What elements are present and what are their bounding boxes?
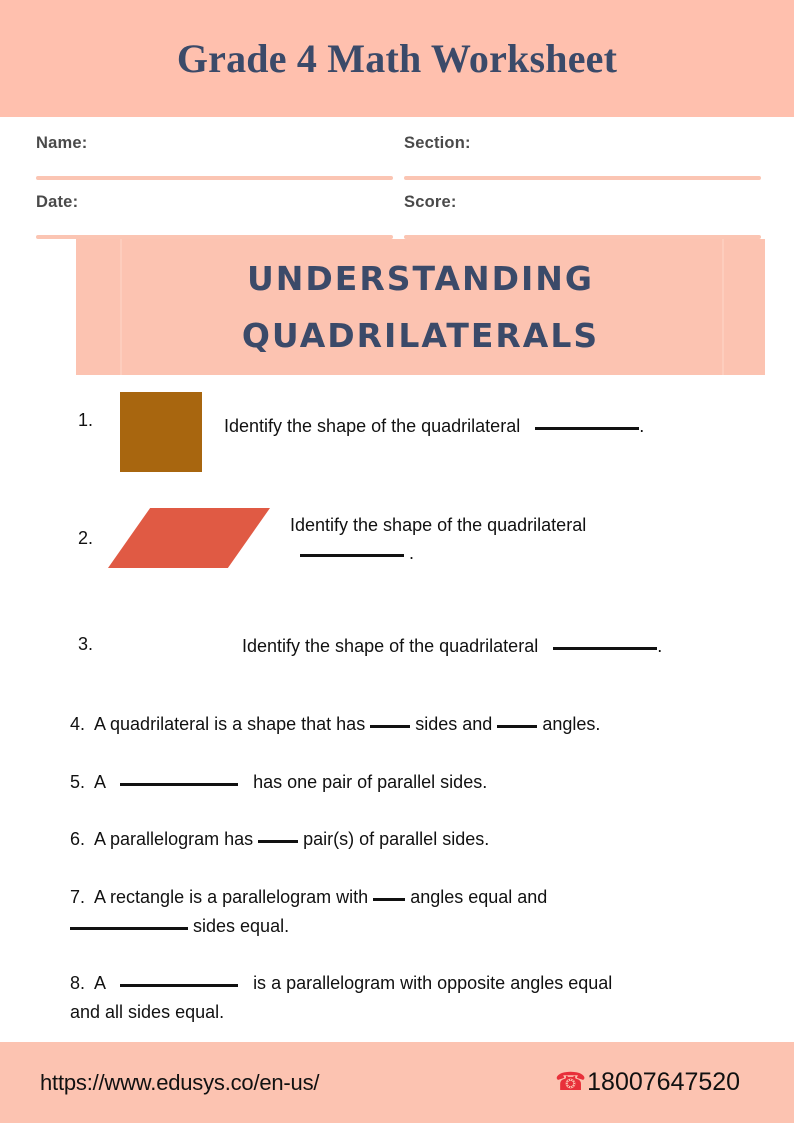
telephone-icon: ☎ [555,1070,586,1095]
question-8-answer-blank[interactable] [120,984,238,987]
question-5-answer-blank[interactable] [120,783,238,786]
question-7-number: 7. [70,887,85,907]
question-3-period: . [657,636,662,656]
question-8-number: 8. [70,973,85,993]
question-7-part2: angles equal and [410,887,547,907]
question-4-part3: angles. [542,714,600,734]
field-section[interactable]: Section: [404,134,761,180]
banner-divider-left [120,239,122,375]
question-2-number: 2. [78,528,93,549]
topic-banner: Understanding Quadrilaterals [76,239,765,375]
question-5-part2: has one pair of parallel sides. [253,772,487,792]
footer-phone[interactable]: ☎18007647520 [555,1068,740,1097]
question-2: 2. Identify the shape of the quadrilater… [0,502,794,582]
student-info-area: Name: Section: Date: Score: [0,117,794,233]
field-section-label: Section: [404,134,471,152]
question-1-period: . [639,416,644,436]
field-date-label: Date: [36,193,78,211]
question-2-text: Identify the shape of the quadrilateral … [290,511,710,567]
question-7-part1: A rectangle is a parallelogram with [94,887,368,907]
question-2-period: . [409,543,414,563]
question-6: 6.A parallelogram has pair(s) of paralle… [70,825,750,854]
question-5-number: 5. [70,772,85,792]
field-name-label: Name: [36,134,87,152]
footer-phone-number: 18007647520 [587,1068,740,1097]
question-7-blank-sides[interactable] [70,927,188,930]
question-8: 8.A is a parallelogram with opposite ang… [70,969,750,1027]
field-score-label: Score: [404,193,457,211]
question-1: 1. Identify the shape of the quadrilater… [0,392,794,492]
footer-band: https://www.edusys.co/en-us/ ☎1800764752… [0,1042,794,1123]
question-6-answer-blank[interactable] [258,840,298,843]
worksheet-header-band: Grade 4 Math Worksheet [0,0,794,117]
rectangle-shape [120,392,202,472]
question-5-part1: A [94,772,105,792]
field-name-rule [36,176,393,180]
question-8-part2: is a parallelogram with opposite angles … [253,973,612,993]
banner-divider-right [722,239,724,375]
question-3-number: 3. [78,634,93,655]
question-3-text: Identify the shape of the quadrilateral … [242,632,662,660]
question-8-part1: A [94,973,105,993]
question-1-answer-blank[interactable] [535,427,639,430]
question-6-part1: A parallelogram has [94,829,253,849]
field-date[interactable]: Date: [36,193,393,239]
footer-url[interactable]: https://www.edusys.co/en-us/ [40,1070,319,1096]
question-4-blank-angles[interactable] [497,725,537,728]
question-2-answer-blank[interactable] [300,554,404,557]
field-section-rule [404,176,761,180]
question-4-part2: sides and [415,714,492,734]
question-6-number: 6. [70,829,85,849]
question-2-prompt: Identify the shape of the quadrilateral [290,515,586,535]
question-3-prompt: Identify the shape of the quadrilateral [242,636,538,656]
question-5: 5.A has one pair of parallel sides. [70,768,750,797]
question-3: 3. Identify the shape of the quadrilater… [0,594,794,698]
topic-title-line1: Understanding [247,250,594,307]
question-8-part3: and all sides equal. [70,1002,224,1022]
question-1-number: 1. [78,410,93,431]
question-3-answer-blank[interactable] [553,647,657,650]
field-name[interactable]: Name: [36,134,393,180]
question-7-blank-angles[interactable] [373,898,405,901]
question-4-number: 4. [70,714,85,734]
parallelogram-shape [108,508,270,568]
question-6-part2: pair(s) of parallel sides. [303,829,489,849]
field-score[interactable]: Score: [404,193,761,239]
page-title: Grade 4 Math Worksheet [177,35,617,82]
question-4-part1: A quadrilateral is a shape that has [94,714,365,734]
question-1-prompt: Identify the shape of the quadrilateral [224,416,520,436]
question-7-part3: sides equal. [193,916,289,936]
question-4-blank-sides[interactable] [370,725,410,728]
topic-title-line2: Quadrilaterals [242,307,599,364]
question-7: 7.A rectangle is a parallelogram with an… [70,883,750,941]
question-4: 4.A quadrilateral is a shape that has si… [70,710,750,739]
question-1-text: Identify the shape of the quadrilateral … [224,412,644,440]
